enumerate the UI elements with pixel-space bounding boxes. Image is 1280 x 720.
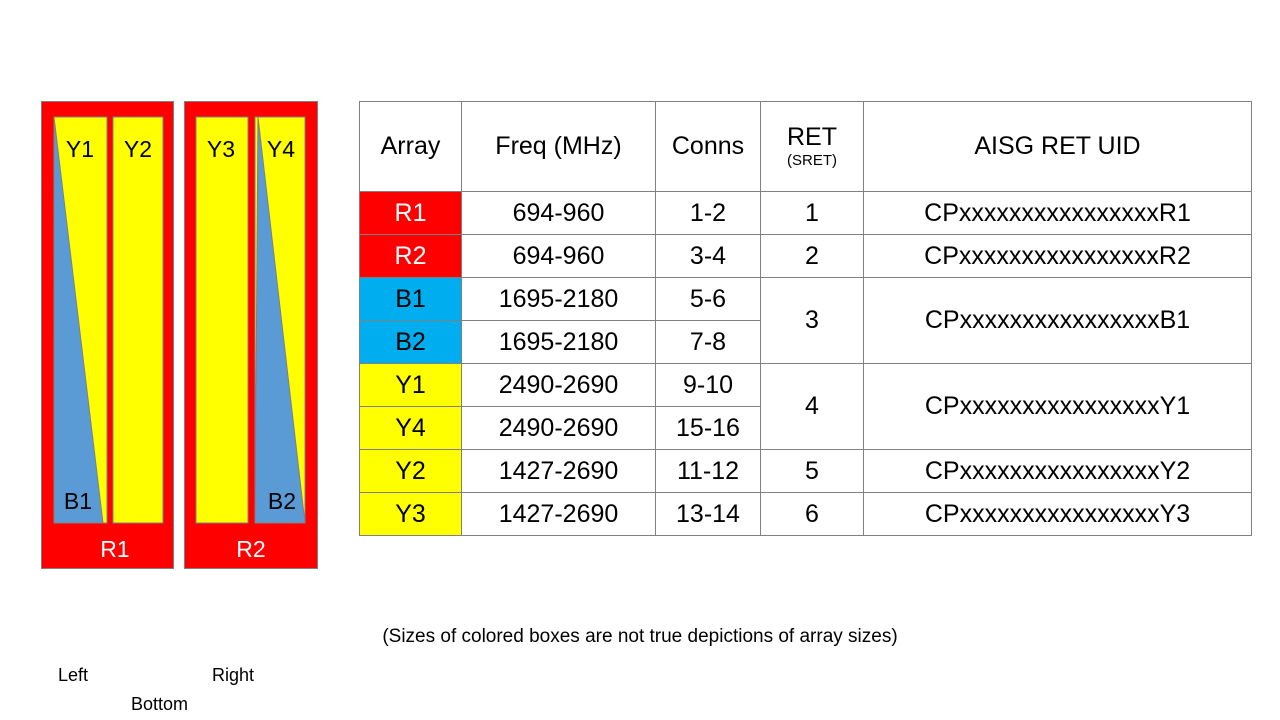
- cell-freq: 694-960: [462, 192, 656, 235]
- array-label-b1: B1: [64, 488, 92, 514]
- cell-conns: 3-4: [656, 235, 761, 278]
- column-header-uid: AISG RET UID: [864, 102, 1252, 192]
- cell-conns: 13-14: [656, 493, 761, 536]
- cell-conns: 7-8: [656, 321, 761, 364]
- cell-conns: 5-6: [656, 278, 761, 321]
- antenna-panel-r1: Y1 Y2 B1 R1: [42, 102, 174, 569]
- antenna-diagram: Y1 Y2 B1 R1 Y3 Y4 B2 R2: [41, 101, 318, 569]
- cell-array: Y4: [360, 407, 462, 450]
- cell-array: R1: [360, 192, 462, 235]
- cell-freq: 1427-2690: [462, 493, 656, 536]
- table-row: B11695-21805-63CPxxxxxxxxxxxxxxxxB1: [360, 278, 1252, 321]
- cell-array: Y2: [360, 450, 462, 493]
- panel-label-r2: R2: [236, 536, 265, 562]
- cell-ret: 2: [761, 235, 864, 278]
- table-row: Y21427-269011-125CPxxxxxxxxxxxxxxxxY2: [360, 450, 1252, 493]
- table-header: Array Freq (MHz) Conns RET (SRET) AISG R…: [360, 102, 1252, 192]
- cell-freq: 1695-2180: [462, 278, 656, 321]
- column-header-freq: Freq (MHz): [462, 102, 656, 192]
- orientation-label-left: Left: [58, 665, 88, 686]
- cell-array: R2: [360, 235, 462, 278]
- table-row: Y31427-269013-146CPxxxxxxxxxxxxxxxxY3: [360, 493, 1252, 536]
- cell-array: B1: [360, 278, 462, 321]
- cell-ret: 5: [761, 450, 864, 493]
- cell-conns: 9-10: [656, 364, 761, 407]
- cell-freq: 1695-2180: [462, 321, 656, 364]
- cell-uid: CPxxxxxxxxxxxxxxxxY1: [864, 364, 1252, 450]
- cell-ret: 6: [761, 493, 864, 536]
- table-row: Y12490-26909-104CPxxxxxxxxxxxxxxxxY1: [360, 364, 1252, 407]
- array-label-y1: Y1: [66, 136, 94, 162]
- array-y3-shape: [196, 117, 248, 523]
- cell-ret: 4: [761, 364, 864, 450]
- panel-label-r1: R1: [100, 536, 129, 562]
- column-header-array: Array: [360, 102, 462, 192]
- array-label-b2: B2: [268, 488, 296, 514]
- column-header-conns: Conns: [656, 102, 761, 192]
- array-label-y4: Y4: [267, 136, 295, 162]
- cell-conns: 11-12: [656, 450, 761, 493]
- orientation-label-right: Right: [212, 665, 254, 686]
- cell-array: B2: [360, 321, 462, 364]
- ret-table-container: Array Freq (MHz) Conns RET (SRET) AISG R…: [359, 101, 1251, 536]
- cell-uid: CPxxxxxxxxxxxxxxxxY2: [864, 450, 1252, 493]
- table-header-row: Array Freq (MHz) Conns RET (SRET) AISG R…: [360, 102, 1252, 192]
- antenna-panel-r2: Y3 Y4 B2 R2: [185, 102, 318, 569]
- cell-freq: 1427-2690: [462, 450, 656, 493]
- footnote-text: (Sizes of colored boxes are not true dep…: [0, 626, 1280, 648]
- cell-conns: 15-16: [656, 407, 761, 450]
- cell-conns: 1-2: [656, 192, 761, 235]
- table-row: R1694-9601-21CPxxxxxxxxxxxxxxxxR1: [360, 192, 1252, 235]
- table-body: R1694-9601-21CPxxxxxxxxxxxxxxxxR1R2694-9…: [360, 192, 1252, 536]
- cell-uid: CPxxxxxxxxxxxxxxxxY3: [864, 493, 1252, 536]
- array-y2-shape: [113, 117, 163, 523]
- ret-mapping-table: Array Freq (MHz) Conns RET (SRET) AISG R…: [359, 101, 1252, 536]
- orientation-label-bottom: Bottom: [131, 694, 188, 715]
- array-label-y3: Y3: [207, 136, 235, 162]
- cell-uid: CPxxxxxxxxxxxxxxxxR2: [864, 235, 1252, 278]
- column-header-ret: RET (SRET): [761, 102, 864, 192]
- cell-freq: 2490-2690: [462, 364, 656, 407]
- column-header-ret-main: RET: [761, 124, 863, 152]
- table-row: R2694-9603-42CPxxxxxxxxxxxxxxxxR2: [360, 235, 1252, 278]
- cell-freq: 2490-2690: [462, 407, 656, 450]
- cell-ret: 3: [761, 278, 864, 364]
- cell-array: Y1: [360, 364, 462, 407]
- array-label-y2: Y2: [124, 136, 152, 162]
- cell-ret: 1: [761, 192, 864, 235]
- cell-uid: CPxxxxxxxxxxxxxxxxR1: [864, 192, 1252, 235]
- column-header-ret-sub: (SRET): [761, 153, 863, 170]
- cell-uid: CPxxxxxxxxxxxxxxxxB1: [864, 278, 1252, 364]
- cell-array: Y3: [360, 493, 462, 536]
- cell-freq: 694-960: [462, 235, 656, 278]
